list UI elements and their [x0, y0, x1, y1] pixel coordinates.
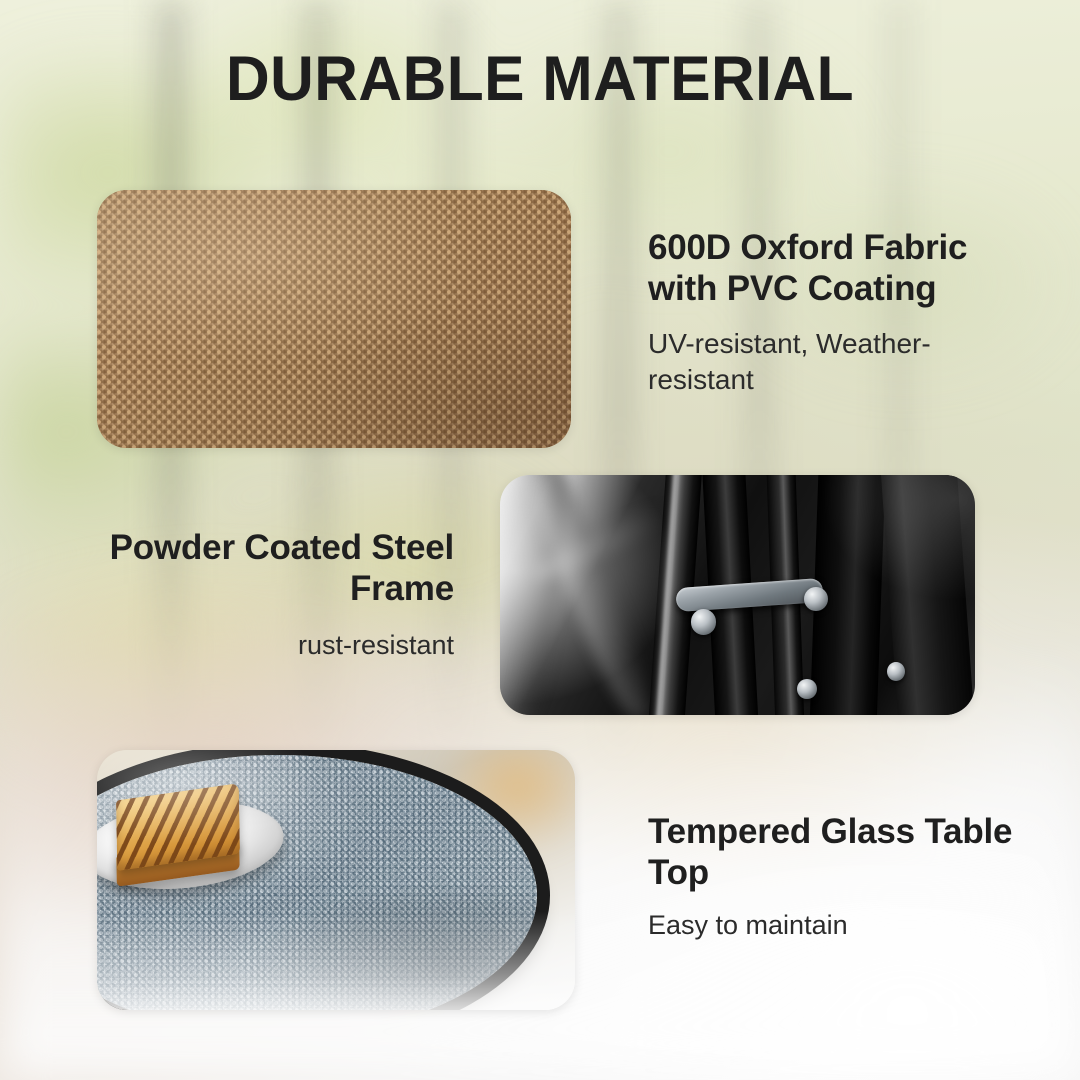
frame-rivet: [797, 679, 817, 699]
feature-glass-table-top: Tempered Glass Table Top Easy to maintai…: [648, 812, 1020, 943]
oxford-fabric-swatch-photo: [97, 190, 571, 448]
feature-oxford-fabric: 600D Oxford Fabric with PVC Coating UV-r…: [648, 228, 1020, 399]
feature-steel-frame: Powder Coated Steel Frame rust-resistant: [92, 528, 454, 663]
page-title: DURABLE MATERIAL: [22, 48, 1059, 111]
bracket-end-rivet: [804, 587, 828, 611]
fabric-shading: [97, 190, 571, 448]
feature-subtitle: Easy to maintain: [648, 908, 1020, 943]
tempered-glass-table-top-photo: [97, 750, 575, 1010]
bracket-pivot-rivet: [691, 609, 716, 634]
feature-title: 600D Oxford Fabric with PVC Coating: [648, 228, 1020, 310]
infographic-canvas: DURABLE MATERIAL 600D Oxford Fabric with…: [0, 0, 1080, 1080]
feature-subtitle: rust-resistant: [92, 628, 454, 663]
powder-coated-steel-frame-photo: [500, 475, 975, 715]
feature-subtitle: UV-resistant, Weather-resistant: [648, 326, 1020, 399]
feature-title: Powder Coated Steel Frame: [92, 528, 454, 610]
feature-title: Tempered Glass Table Top: [648, 812, 1020, 894]
